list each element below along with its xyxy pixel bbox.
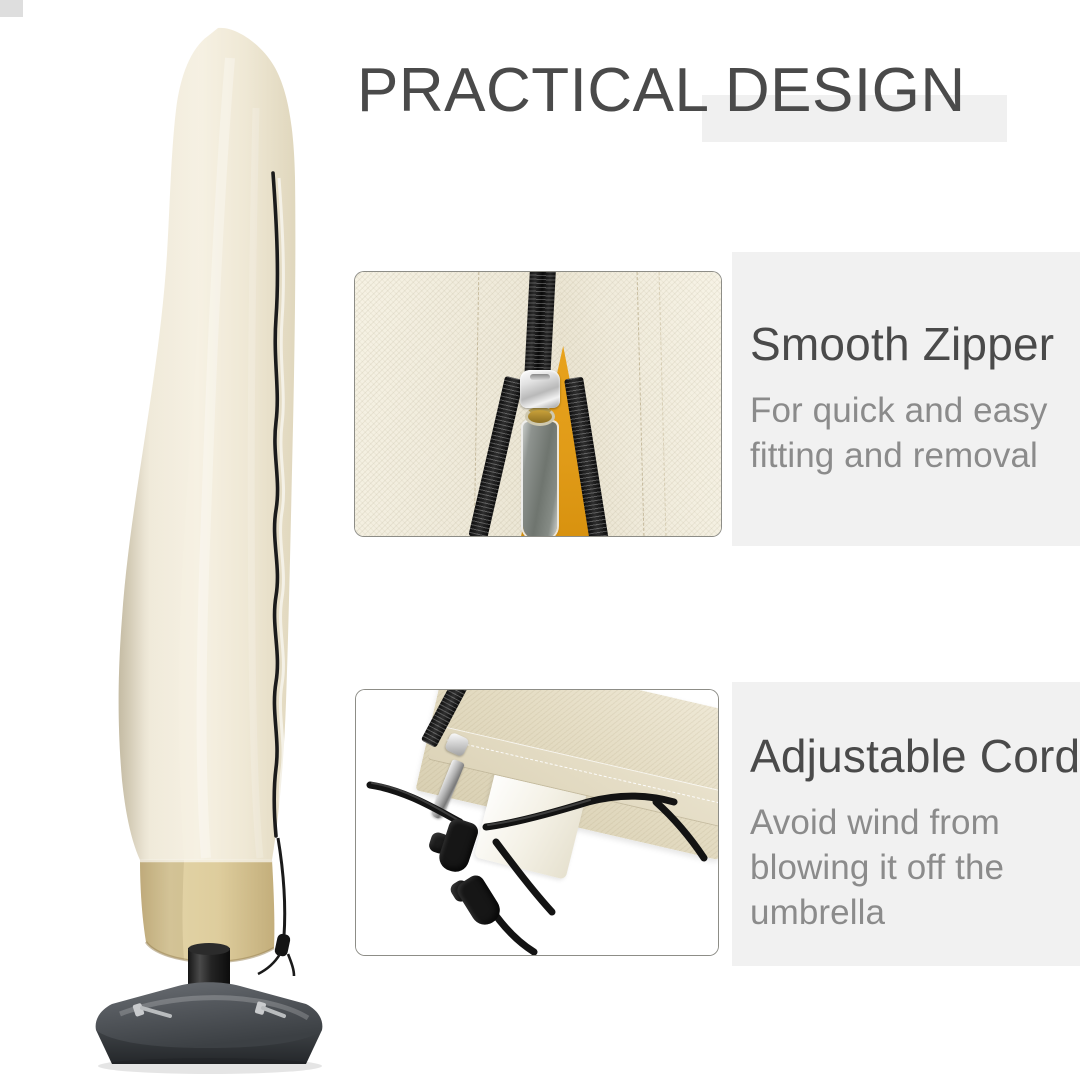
feature-title-zipper: Smooth Zipper [750,318,1054,370]
zipper-slider-ring [525,407,555,426]
zipper-pull-tab [523,422,557,536]
adjustable-cord-closeup-photo [356,690,718,955]
zipper-closeup-photo [355,272,721,536]
feature-description-zipper: For quick and easy fitting and removal [750,388,1070,478]
marketing-image-canvas: PRACTICAL DESIGN Smooth Zipper For quick… [0,0,1080,1080]
feature-title-cord: Adjustable Cord [750,730,1080,782]
feature-description-cord: Avoid wind from blowing it off the umbre… [750,800,1070,935]
page-title: PRACTICAL DESIGN [357,52,966,130]
zipper-slider-body [520,370,560,408]
hero-product-image [60,18,390,1078]
corner-accent-mark [0,0,23,17]
page-title-block: PRACTICAL DESIGN [357,52,1037,147]
elastic-cord-lines [356,690,718,955]
